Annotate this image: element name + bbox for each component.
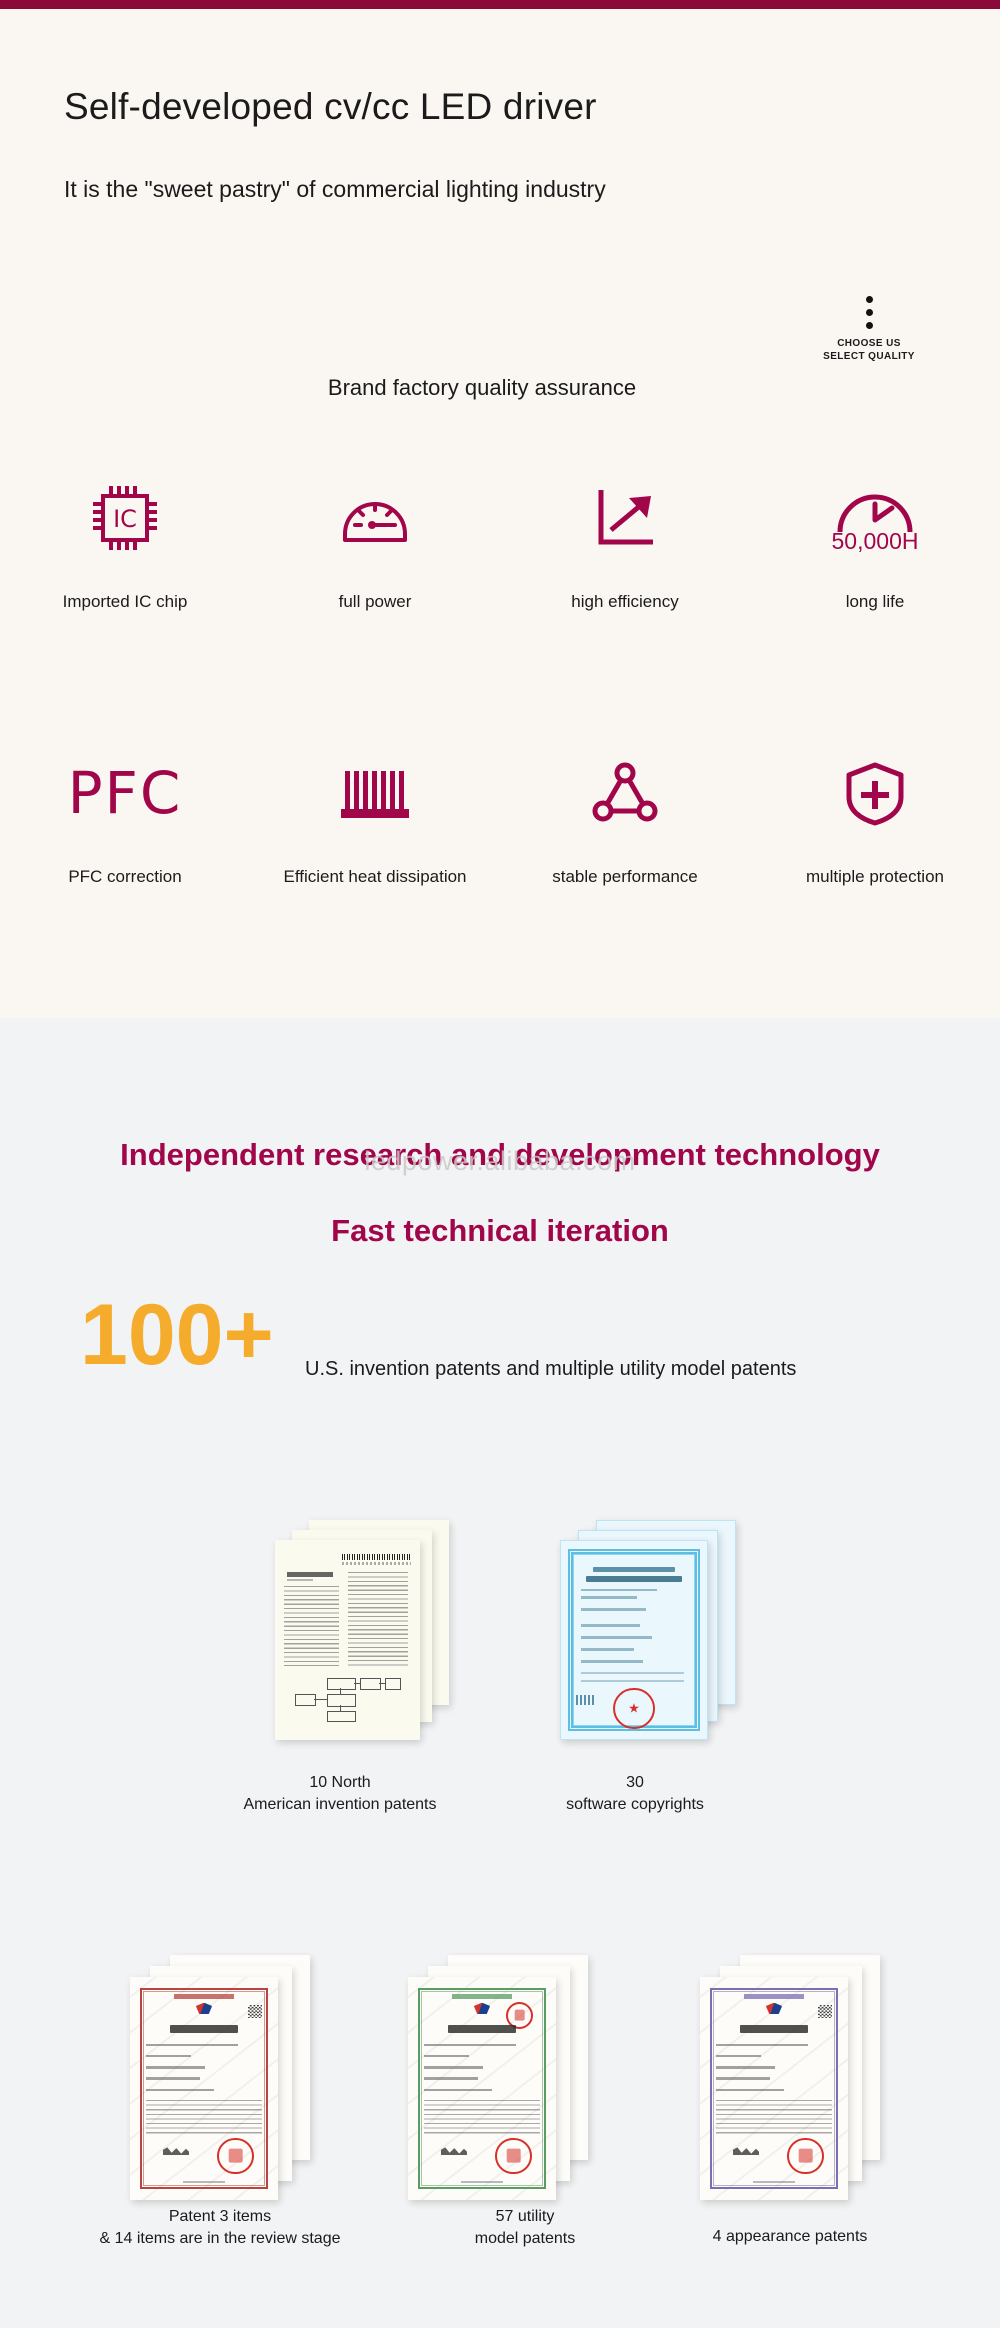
pfc-text: PFC [68, 764, 183, 822]
page-subtitle: It is the "sweet pastry" of commercial l… [64, 176, 606, 203]
certificate-sheet-front: ★ [560, 1540, 708, 1740]
long-life-hours: 50,000H [832, 528, 919, 555]
utility-model-patent-stack [408, 1955, 588, 2200]
feature-label: stable performance [552, 867, 698, 887]
utility-model-patent-caption: 57 utility model patents [420, 2206, 630, 2250]
caption-line-1: 30 [520, 1772, 750, 1794]
choose-us-line2: SELECT QUALITY [814, 350, 924, 363]
caption-line-2: software copyrights [520, 1794, 750, 1816]
caption-line-1: 4 appearance patents [675, 2226, 905, 2248]
us-patent-caption: 10 North American invention patents [215, 1772, 465, 1816]
patents-heading-2: Fast technical iteration [0, 1213, 1000, 1249]
triangle-nodes-icon [585, 745, 665, 841]
page-title: Self-developed cv/cc LED driver [64, 86, 597, 128]
feature-label: long life [846, 592, 905, 612]
features-section: Self-developed cv/cc LED driver It is th… [0, 0, 1000, 1018]
pfc-text-icon: PFC [68, 745, 183, 841]
feature-long-life: 50,000H long life [750, 470, 1000, 612]
growth-arrow-chart-icon [585, 470, 665, 566]
svg-text:IC: IC [113, 505, 137, 533]
feature-label: Efficient heat dissipation [283, 867, 466, 887]
brand-assurance-text: Brand factory quality assurance [0, 375, 1000, 401]
invention-patent-caption: Patent 3 items & 14 items are in the rev… [55, 2206, 385, 2250]
design-patent-caption: 4 appearance patents [675, 2226, 905, 2248]
feature-label: Imported IC chip [63, 592, 188, 612]
us-patent-stack [275, 1520, 450, 1740]
caption-line-2: & 14 items are in the review stage [55, 2228, 385, 2250]
shield-plus-icon [835, 745, 915, 841]
three-dots-icon [814, 296, 924, 329]
feature-multiple-protection: multiple protection [750, 745, 1000, 887]
ic-chip-icon: IC [85, 470, 165, 566]
feature-label: high efficiency [571, 592, 678, 612]
caption-line-2: model patents [420, 2228, 630, 2250]
certificate-sheet-front [130, 1977, 278, 2200]
patents-heading-1: Independent research and development tec… [0, 1137, 1000, 1173]
feature-label: multiple protection [806, 867, 944, 887]
invention-patent-stack [130, 1955, 310, 2200]
caption-line-1: Patent 3 items [55, 2206, 385, 2228]
choose-us-badge: CHOOSE US SELECT QUALITY [814, 296, 924, 363]
feature-high-efficiency: high efficiency [500, 470, 750, 612]
caption-line-2: American invention patents [215, 1794, 465, 1816]
certificate-sheet-front [408, 1977, 556, 2200]
caption-line-1: 10 North [215, 1772, 465, 1794]
top-accent-bar [0, 0, 1000, 9]
software-copyright-stack: ★ [560, 1520, 740, 1740]
feature-row-1: IC Imported IC chip [0, 470, 1000, 612]
feature-label: PFC correction [68, 867, 181, 887]
heat-sink-fins-icon [335, 745, 415, 841]
feature-pfc-correction: PFC PFC correction [0, 745, 250, 887]
software-copyright-caption: 30 software copyrights [520, 1772, 750, 1816]
caption-line-1: 57 utility [420, 2206, 630, 2228]
feature-stable-performance: stable performance [500, 745, 750, 887]
patent-count-note: U.S. invention patents and multiple util… [305, 1358, 796, 1381]
choose-us-line1: CHOOSE US [814, 337, 924, 350]
feature-heat-dissipation: Efficient heat dissipation [250, 745, 500, 887]
feature-row-2: PFC PFC correction [0, 745, 1000, 887]
clock-arc-icon: 50,000H [832, 470, 919, 566]
promo-page: Self-developed cv/cc LED driver It is th… [0, 0, 1000, 2328]
feature-full-power: full power [250, 470, 500, 612]
feature-imported-ic-chip: IC Imported IC chip [0, 470, 250, 612]
patent-count-number: 100+ [80, 1292, 274, 1378]
certificate-sheet-front [275, 1540, 420, 1740]
gauge-icon [335, 470, 415, 566]
feature-label: full power [339, 592, 412, 612]
certificate-sheet-front [700, 1977, 848, 2200]
design-patent-stack [700, 1955, 880, 2200]
